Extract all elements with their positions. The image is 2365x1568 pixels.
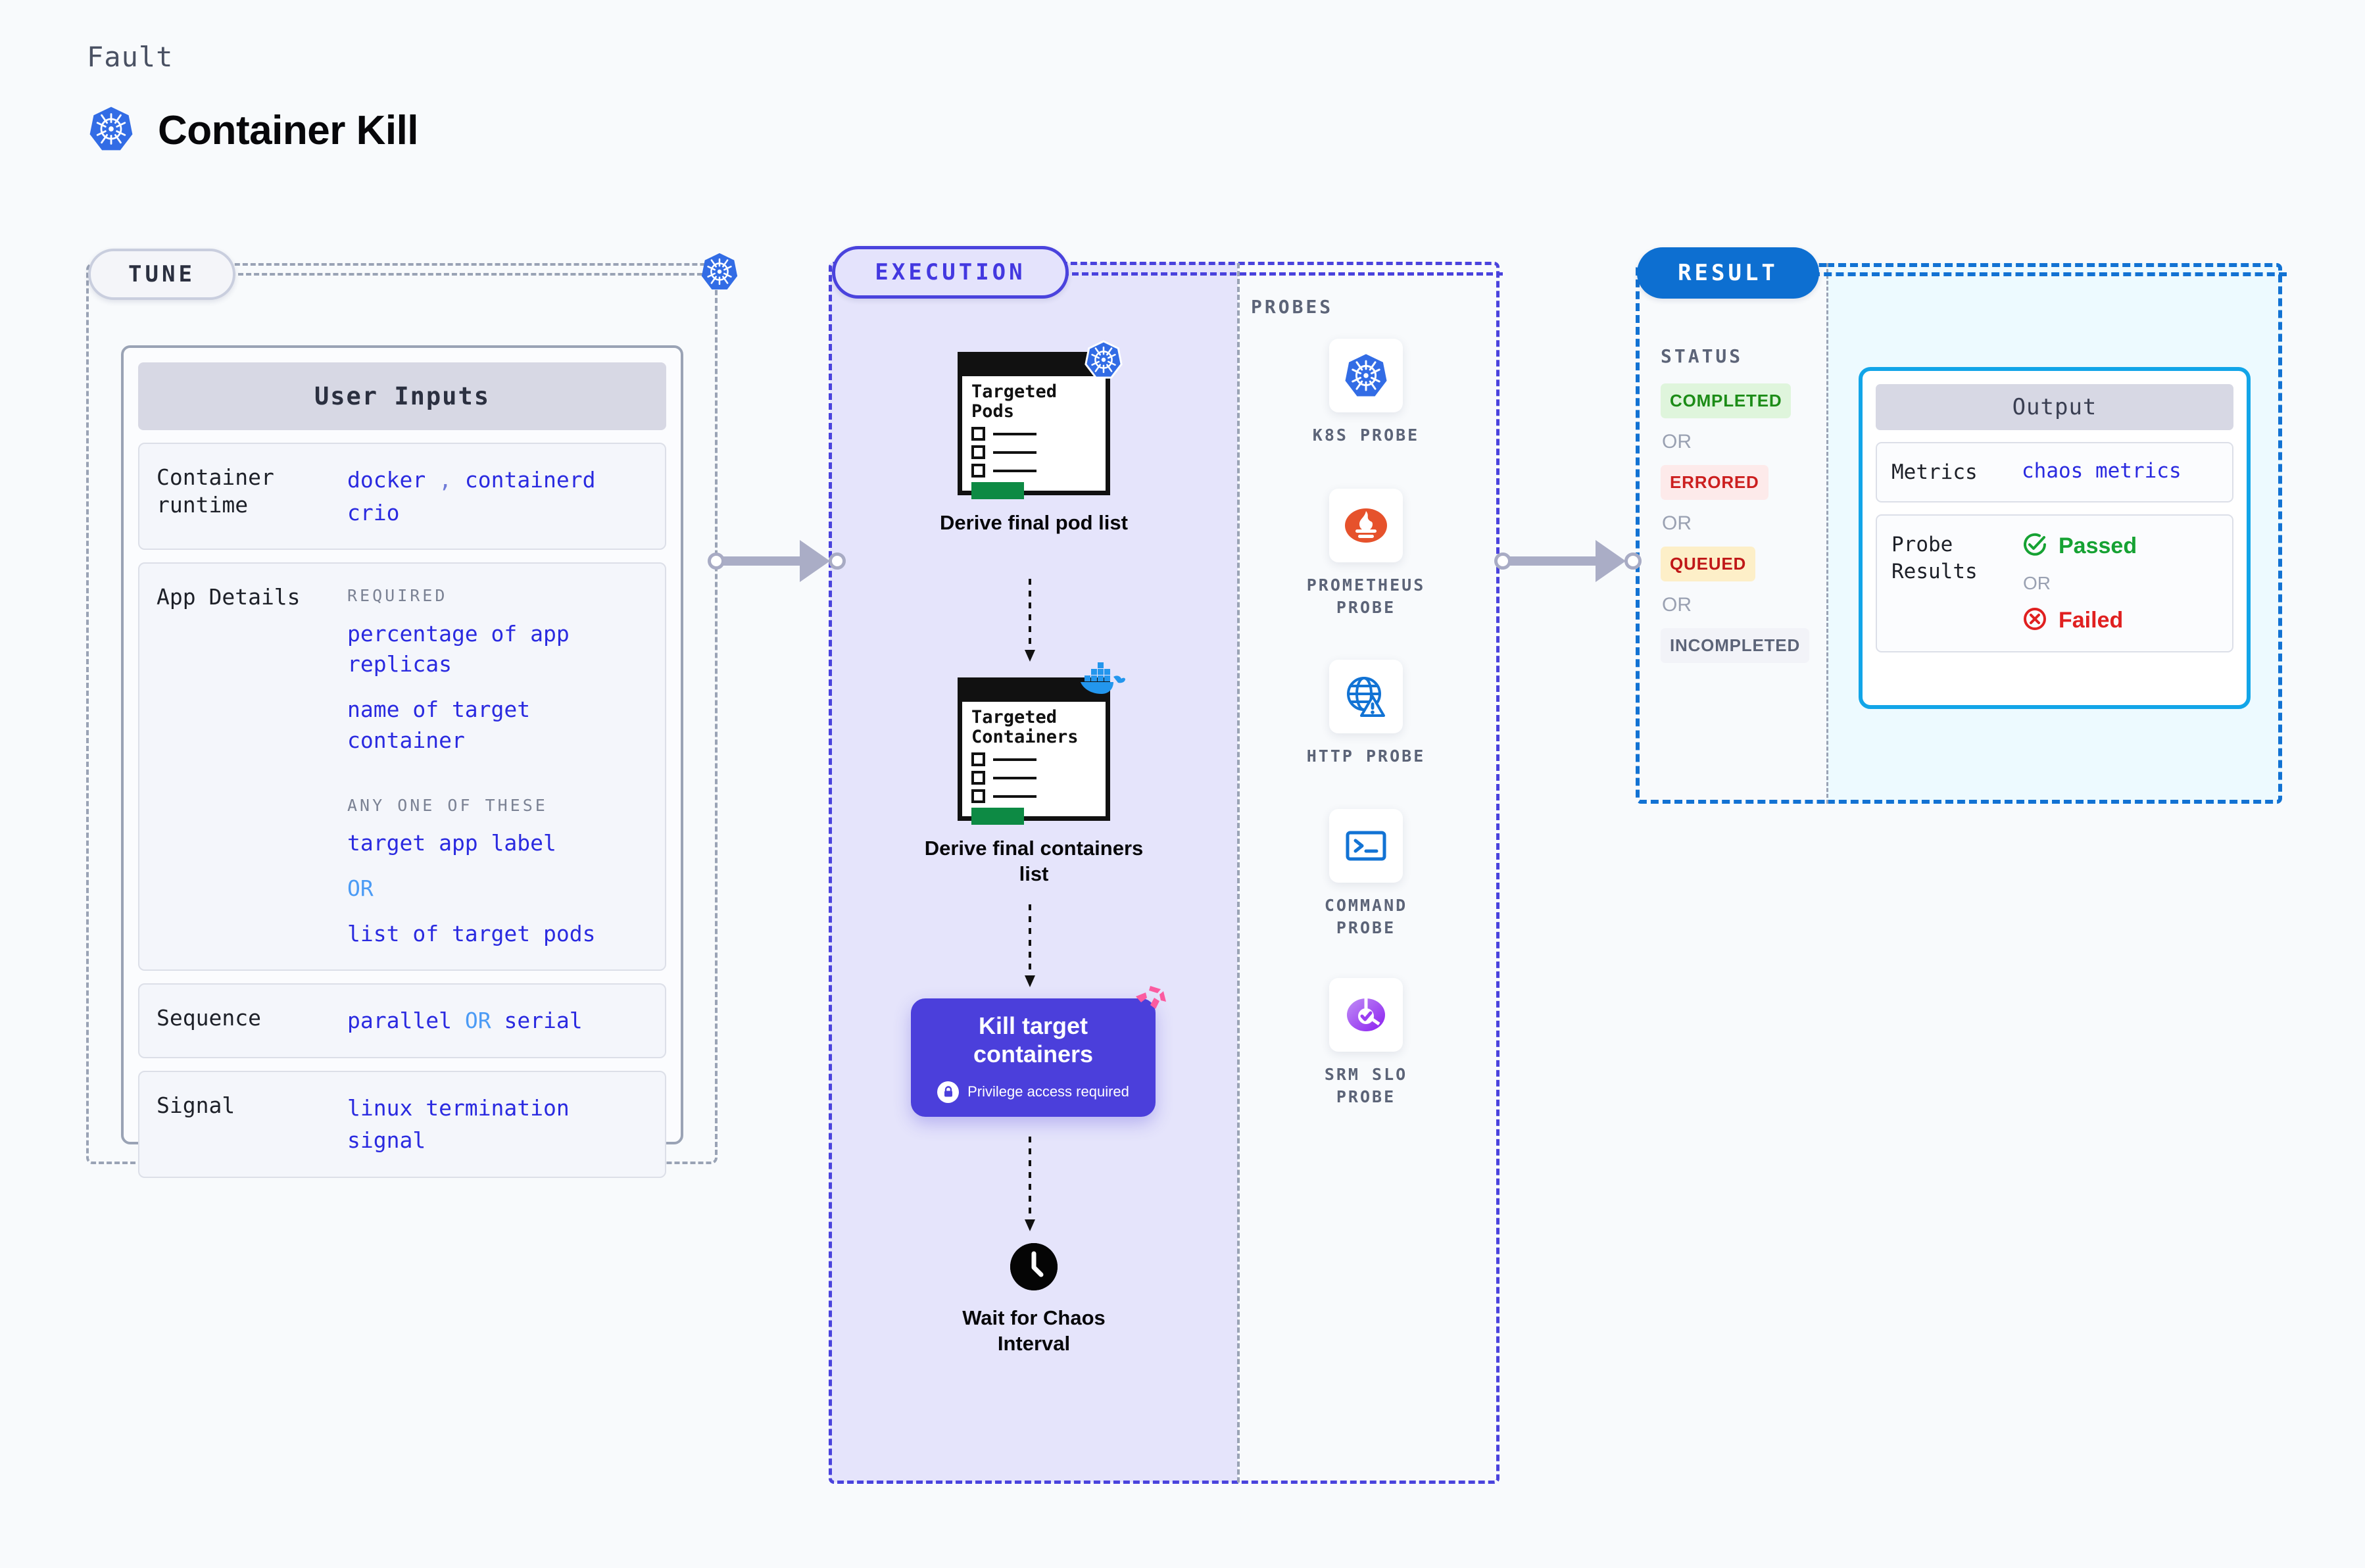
- connector-tune-execution: [708, 541, 846, 581]
- doc-row: [971, 427, 1106, 441]
- probes-divider: [1237, 263, 1240, 1482]
- arrow-kill-to-wait: [1022, 1137, 1038, 1238]
- probe-result-passed: Passed: [2022, 531, 2137, 561]
- row-label: Signal: [157, 1092, 347, 1157]
- node-derive-pod-list: TargetedPods Derive final pod lis: [922, 352, 1146, 535]
- required-item: percentage of app replicas: [347, 619, 648, 681]
- doc-highlight: [971, 482, 1024, 499]
- execution-pill[interactable]: EXECUTION: [832, 246, 1069, 299]
- doc-highlight: [971, 808, 1024, 825]
- probe-label: PROMETHEUSPROBE: [1284, 574, 1448, 619]
- anyone-item: list of target pods: [347, 919, 648, 950]
- connector-arrowhead: [1596, 540, 1626, 582]
- kill-title: Kill targetcontainers: [973, 1012, 1093, 1068]
- required-subhead: REQUIRED: [347, 583, 648, 608]
- node-caption: Derive final containers list: [922, 835, 1146, 887]
- user-inputs-title: User Inputs: [138, 362, 666, 430]
- status-badge-queued: QUEUED: [1661, 547, 1755, 581]
- doc-title: TargetedContainers: [962, 702, 1106, 748]
- check-circle-icon: [2022, 531, 2048, 561]
- probe-prometheus[interactable]: PROMETHEUSPROBE: [1284, 489, 1448, 619]
- required-item: name of target container: [347, 695, 648, 756]
- connector-execution-result: [1494, 541, 1642, 581]
- result-divider: [1826, 263, 1828, 804]
- probe-srm-slo[interactable]: SRM SLOPROBE: [1284, 978, 1448, 1108]
- litmus-icon: [1134, 985, 1167, 1019]
- privilege-label: Privilege access required: [967, 1083, 1129, 1100]
- status-badge-errored: ERRORED: [1661, 465, 1768, 500]
- tune-pill[interactable]: TUNE: [88, 249, 235, 300]
- row-value: parallel OR serial: [347, 1004, 583, 1037]
- connector-dot: [829, 552, 846, 570]
- docker-icon: [1079, 660, 1125, 700]
- targeted-containers-doc: TargetedContainers: [958, 677, 1110, 821]
- probe-label: SRM SLOPROBE: [1284, 1064, 1448, 1108]
- output-card: Output Metrics chaos metrics ProbeResult…: [1859, 367, 2251, 709]
- srm-slo-icon: [1329, 978, 1403, 1052]
- status-or: OR: [1662, 431, 1818, 453]
- row-label: Containerruntime: [157, 464, 347, 529]
- probe-results-label: ProbeResults: [1891, 531, 2022, 635]
- probe-label: COMMANDPROBE: [1284, 894, 1448, 939]
- kubernetes-icon: [87, 105, 135, 157]
- metrics-label: Metrics: [1891, 459, 2022, 485]
- connector-dot: [1624, 552, 1642, 570]
- probe-results-value: Passed OR Failed: [2022, 531, 2137, 635]
- anyone-subhead: ANY ONE OF THESE: [347, 793, 648, 818]
- probe-label: K8S PROBE: [1284, 424, 1448, 447]
- arrow-containers-to-kill: [1022, 904, 1038, 993]
- tune-dash-line: [230, 273, 710, 276]
- status-badge-incompleted: INCOMPLETED: [1661, 628, 1809, 663]
- status-or: OR: [1662, 594, 1818, 616]
- clock-icon: [1010, 1243, 1058, 1290]
- doc-row: [971, 445, 1106, 459]
- kubernetes-icon: [1329, 339, 1403, 412]
- status-title: STATUS: [1661, 345, 1743, 367]
- row-label: App Details: [157, 583, 347, 950]
- status-or: OR: [1662, 512, 1818, 535]
- probes-title: PROBES: [1251, 296, 1333, 318]
- anyone-or: OR: [347, 873, 648, 904]
- targeted-pods-doc: TargetedPods: [958, 352, 1110, 495]
- node-wait-for-chaos-interval: Wait for ChaosInterval: [922, 1243, 1146, 1356]
- passed-label: Passed: [2059, 533, 2137, 559]
- doc-row: [971, 464, 1106, 478]
- node-derive-containers-list: TargetedContainers Derive final containe…: [922, 677, 1146, 887]
- probe-k8s[interactable]: K8S PROBE: [1284, 339, 1448, 447]
- connector-bar: [723, 556, 801, 566]
- failed-label: Failed: [2059, 608, 2123, 633]
- doc-rows: [962, 423, 1106, 478]
- row-probe-results: ProbeResults Passed OR Failed: [1876, 514, 2233, 652]
- checkbox-icon: [971, 771, 985, 785]
- kubernetes-icon: [699, 251, 740, 295]
- x-circle-icon: [2022, 606, 2048, 635]
- connector-arrowhead: [800, 540, 830, 582]
- doc-row: [971, 771, 1106, 785]
- page-title: Container Kill: [158, 107, 418, 154]
- probe-http[interactable]: HTTP PROBE: [1284, 660, 1448, 768]
- doc-row: [971, 752, 1106, 766]
- connector-bar: [1510, 556, 1597, 566]
- probe-result-or: OR: [2023, 573, 2137, 594]
- checkbox-icon: [971, 752, 985, 766]
- checkbox-icon: [971, 445, 985, 459]
- execution-dash-line: [1062, 272, 1503, 276]
- row-sequence: Sequence parallel OR serial: [138, 983, 666, 1058]
- output-title: Output: [1876, 384, 2233, 430]
- connector-dot: [708, 552, 725, 570]
- row-label: Sequence: [157, 1004, 347, 1037]
- user-inputs-card: User Inputs Containerruntime docker , co…: [121, 345, 683, 1144]
- checkbox-icon: [971, 464, 985, 478]
- result-pill[interactable]: RESULT: [1637, 247, 1819, 299]
- row-signal: Signal linux terminationsignal: [138, 1071, 666, 1178]
- row-value: linux terminationsignal: [347, 1092, 570, 1157]
- checkbox-icon: [971, 789, 985, 803]
- result-dash-line: [1812, 272, 2287, 276]
- row-value: REQUIRED percentage of app replicas name…: [347, 583, 648, 950]
- title-row: Container Kill: [87, 105, 418, 157]
- http-globe-warning-icon: [1329, 660, 1403, 733]
- connector-dot: [1494, 552, 1511, 570]
- node-caption: Wait for ChaosInterval: [922, 1305, 1146, 1356]
- privilege-note: Privilege access required: [937, 1081, 1129, 1103]
- status-list: COMPLETED OR ERRORED OR QUEUED OR INCOMP…: [1661, 383, 1818, 663]
- row-app-details: App Details REQUIRED percentage of app r…: [138, 562, 666, 971]
- arrow-pods-to-containers: [1022, 579, 1038, 668]
- probe-label: HTTP PROBE: [1284, 745, 1448, 768]
- metrics-value: chaos metrics: [2022, 459, 2182, 485]
- node-caption: Derive final pod list: [922, 510, 1146, 535]
- node-kill-target-containers[interactable]: Kill targetcontainers Privilege access r…: [911, 998, 1156, 1117]
- page-header: Fault Contai: [87, 41, 418, 157]
- row-metrics: Metrics chaos metrics: [1876, 442, 2233, 502]
- doc-row: [971, 789, 1106, 803]
- fault-eyebrow: Fault: [87, 41, 418, 73]
- kubernetes-icon: [1083, 339, 1124, 383]
- doc-rows: [962, 748, 1106, 803]
- probe-command[interactable]: COMMANDPROBE: [1284, 809, 1448, 939]
- lock-icon: [937, 1081, 959, 1103]
- row-container-runtime: Containerruntime docker , containerd cri…: [138, 443, 666, 550]
- anyone-item: target app label: [347, 828, 648, 859]
- status-badge-completed: COMPLETED: [1661, 383, 1791, 418]
- prometheus-icon: [1329, 489, 1403, 562]
- terminal-icon: [1329, 809, 1403, 883]
- row-value: docker , containerd crio: [347, 464, 596, 529]
- checkbox-icon: [971, 427, 985, 441]
- probe-result-failed: Failed: [2022, 606, 2137, 635]
